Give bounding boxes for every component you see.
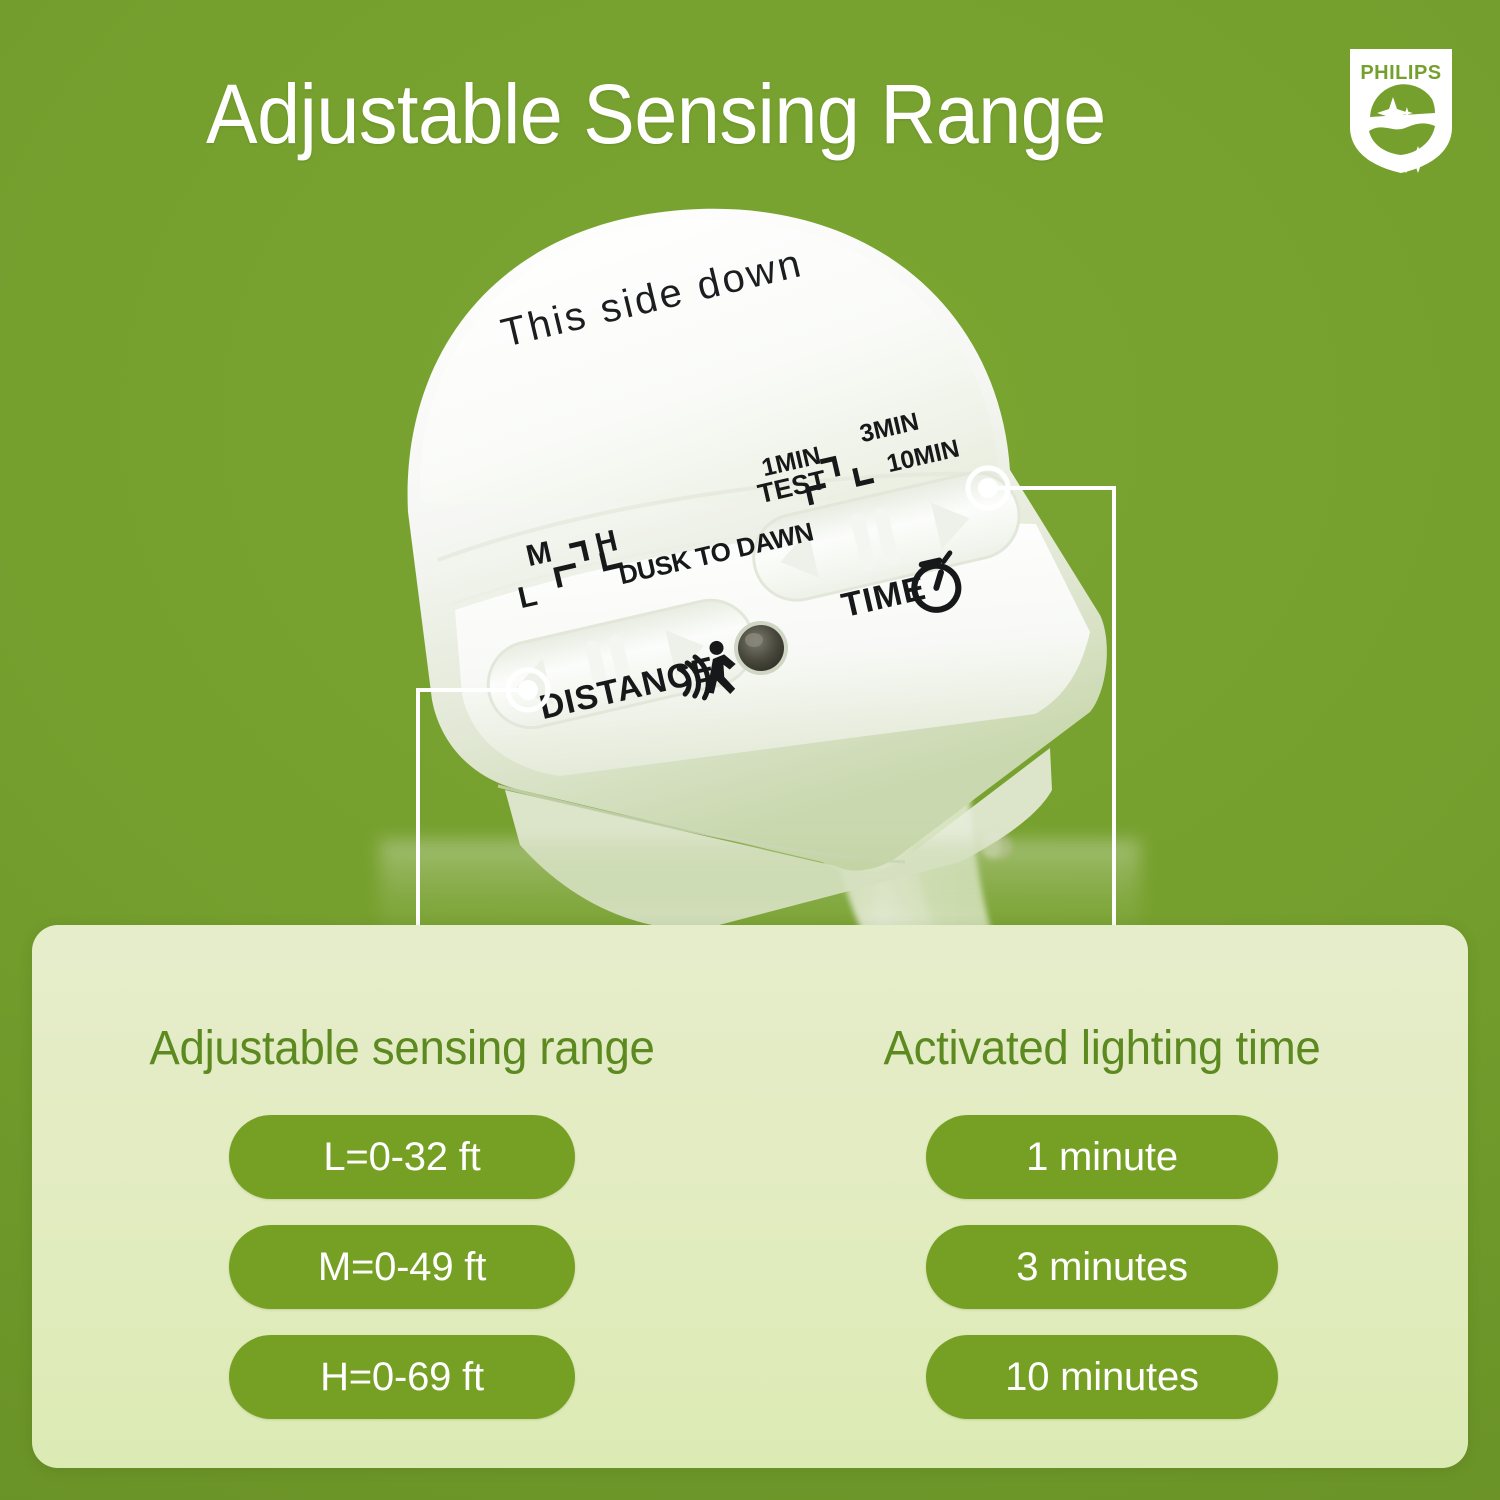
option-pill[interactable]: L=0-32 ft — [229, 1115, 575, 1199]
option-pill[interactable]: M=0-49 ft — [229, 1225, 575, 1309]
column-heading-sensing-range: Adjustable sensing range — [89, 1021, 716, 1076]
spec-column-sensing-range: Adjustable sensing range L=0-32 ft M=0-4… — [72, 925, 732, 1468]
sensing-range-options: L=0-32 ft M=0-49 ft H=0-69 ft — [72, 1115, 732, 1445]
option-pill[interactable]: 10 minutes — [926, 1335, 1278, 1419]
option-pill[interactable]: H=0-69 ft — [229, 1335, 575, 1419]
option-pill[interactable]: 1 minute — [926, 1115, 1278, 1199]
lighting-time-options: 1 minute 3 minutes 10 minutes — [772, 1115, 1432, 1445]
spec-column-lighting-time: Activated lighting time 1 minute 3 minut… — [772, 925, 1432, 1468]
column-heading-lighting-time: Activated lighting time — [789, 1021, 1416, 1076]
spec-panel: Adjustable sensing range L=0-32 ft M=0-4… — [32, 925, 1468, 1468]
infographic-canvas: Adjustable Sensing Range PHILIPS — [0, 0, 1500, 1500]
option-pill[interactable]: 3 minutes — [926, 1225, 1278, 1309]
